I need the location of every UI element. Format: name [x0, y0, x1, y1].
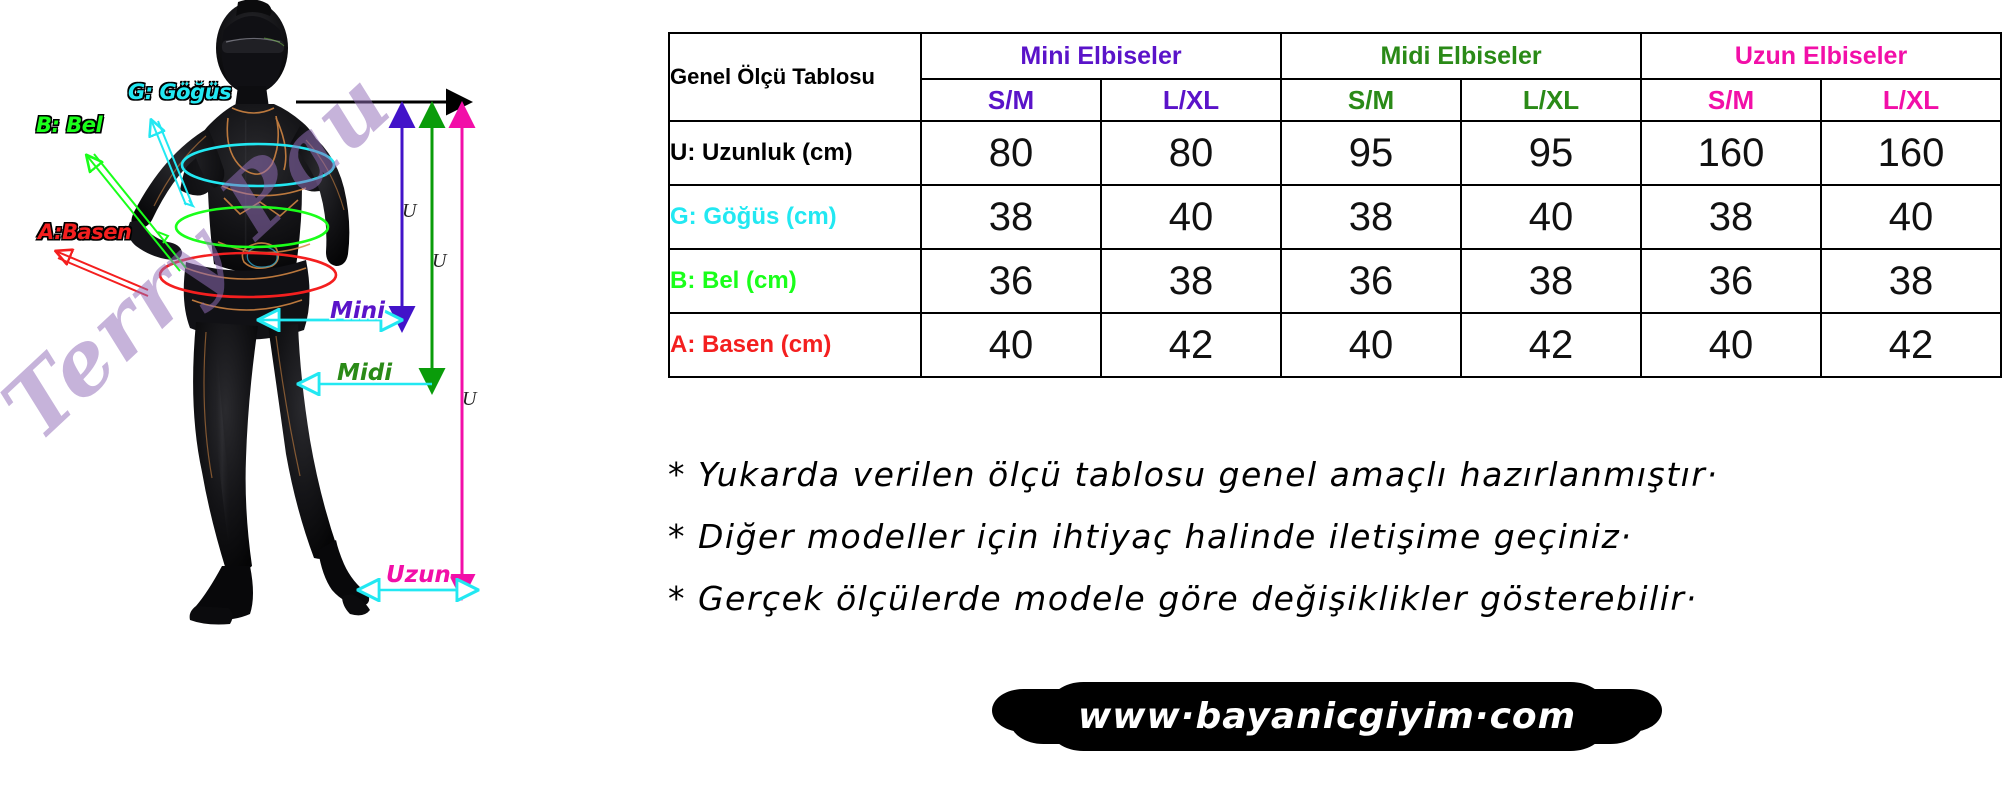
cell-bel-midi-lxl: 38: [1461, 249, 1641, 313]
cell-uzunluk-uzun-sm: 160: [1641, 121, 1821, 185]
size-header-midi-sm: S/M: [1281, 79, 1461, 121]
hip-leader-arrow: [58, 252, 148, 296]
cell-bel-uzun-sm: 36: [1641, 249, 1821, 313]
website-banner[interactable]: www·bayanicgiyim·com: [1044, 687, 1610, 746]
note-line-3: * Gerçek ölçülerde modele göre değişikli…: [668, 579, 1697, 618]
cell-gogus-mini-sm: 38: [921, 185, 1101, 249]
model-illustration-panel: Terry Pau G: Göğüs B: Bel A:Basen Mini M…: [0, 0, 660, 811]
row-label-gogus: G: Göğüs (cm): [669, 185, 921, 249]
cell-uzunluk-midi-lxl: 95: [1461, 121, 1641, 185]
size-header-mini-sm: S/M: [921, 79, 1101, 121]
length-mark-mini: U: [402, 200, 416, 223]
cell-gogus-midi-sm: 38: [1281, 185, 1461, 249]
row-label-basen: A: Basen (cm): [669, 313, 921, 377]
cell-uzunluk-uzun-lxl: 160: [1821, 121, 2001, 185]
cell-bel-uzun-lxl: 38: [1821, 249, 2001, 313]
size-table: Genel Ölçü Tablosu Mini Elbiseler Midi E…: [668, 32, 2002, 378]
row-label-bel: B: Bel (cm): [669, 249, 921, 313]
cell-uzunluk-mini-lxl: 80: [1101, 121, 1281, 185]
size-chart-panel: Genel Ölçü Tablosu Mini Elbiseler Midi E…: [660, 0, 2010, 811]
group-header-midi: Midi Elbiseler: [1281, 33, 1641, 79]
cell-basen-mini-lxl: 42: [1101, 313, 1281, 377]
note-line-2: * Diğer modeller için ihtiyaç halinde il…: [668, 517, 1632, 556]
table-group-header-row: Genel Ölçü Tablosu Mini Elbiseler Midi E…: [669, 33, 2001, 79]
cell-uzunluk-midi-sm: 95: [1281, 121, 1461, 185]
uzun-length-label: Uzun: [386, 562, 451, 588]
row-label-uzunluk: U: Uzunluk (cm): [669, 121, 921, 185]
table-row: G: Göğüs (cm) 38 40 38 40 38 40: [669, 185, 2001, 249]
cell-basen-mini-sm: 40: [921, 313, 1101, 377]
cell-gogus-uzun-lxl: 40: [1821, 185, 2001, 249]
cell-bel-mini-lxl: 38: [1101, 249, 1281, 313]
cell-basen-midi-sm: 40: [1281, 313, 1461, 377]
cell-gogus-mini-lxl: 40: [1101, 185, 1281, 249]
cell-basen-midi-lxl: 42: [1461, 313, 1641, 377]
cell-basen-uzun-sm: 40: [1641, 313, 1821, 377]
cell-bel-mini-sm: 36: [921, 249, 1101, 313]
length-mark-midi: U: [432, 250, 446, 273]
size-header-uzun-lxl: L/XL: [1821, 79, 2001, 121]
size-header-uzun-sm: S/M: [1641, 79, 1821, 121]
cell-gogus-uzun-sm: 38: [1641, 185, 1821, 249]
waist-measure-label: B: Bel: [36, 113, 102, 137]
group-header-uzun: Uzun Elbiseler: [1641, 33, 2001, 79]
website-url-text: www·bayanicgiyim·com: [1078, 696, 1576, 737]
length-mark-uzun: U: [462, 388, 476, 411]
cell-basen-uzun-lxl: 42: [1821, 313, 2001, 377]
size-header-midi-lxl: L/XL: [1461, 79, 1641, 121]
table-corner-label: Genel Ölçü Tablosu: [669, 33, 921, 121]
cell-bel-midi-sm: 36: [1281, 249, 1461, 313]
note-line-1: * Yukarda verilen ölçü tablosu genel ama…: [668, 455, 1718, 494]
size-header-mini-lxl: L/XL: [1101, 79, 1281, 121]
group-header-mini: Mini Elbiseler: [921, 33, 1281, 79]
table-row: B: Bel (cm) 36 38 36 38 36 38: [669, 249, 2001, 313]
bust-measure-label: G: Göğüs: [128, 80, 231, 104]
cell-uzunluk-mini-sm: 80: [921, 121, 1101, 185]
mini-length-label: Mini: [330, 298, 385, 324]
cell-gogus-midi-lxl: 40: [1461, 185, 1641, 249]
table-row: U: Uzunluk (cm) 80 80 95 95 160 160: [669, 121, 2001, 185]
table-row: A: Basen (cm) 40 42 40 42 40 42: [669, 313, 2001, 377]
hip-measure-label: A:Basen: [38, 220, 131, 244]
midi-length-label: Midi: [337, 360, 392, 386]
